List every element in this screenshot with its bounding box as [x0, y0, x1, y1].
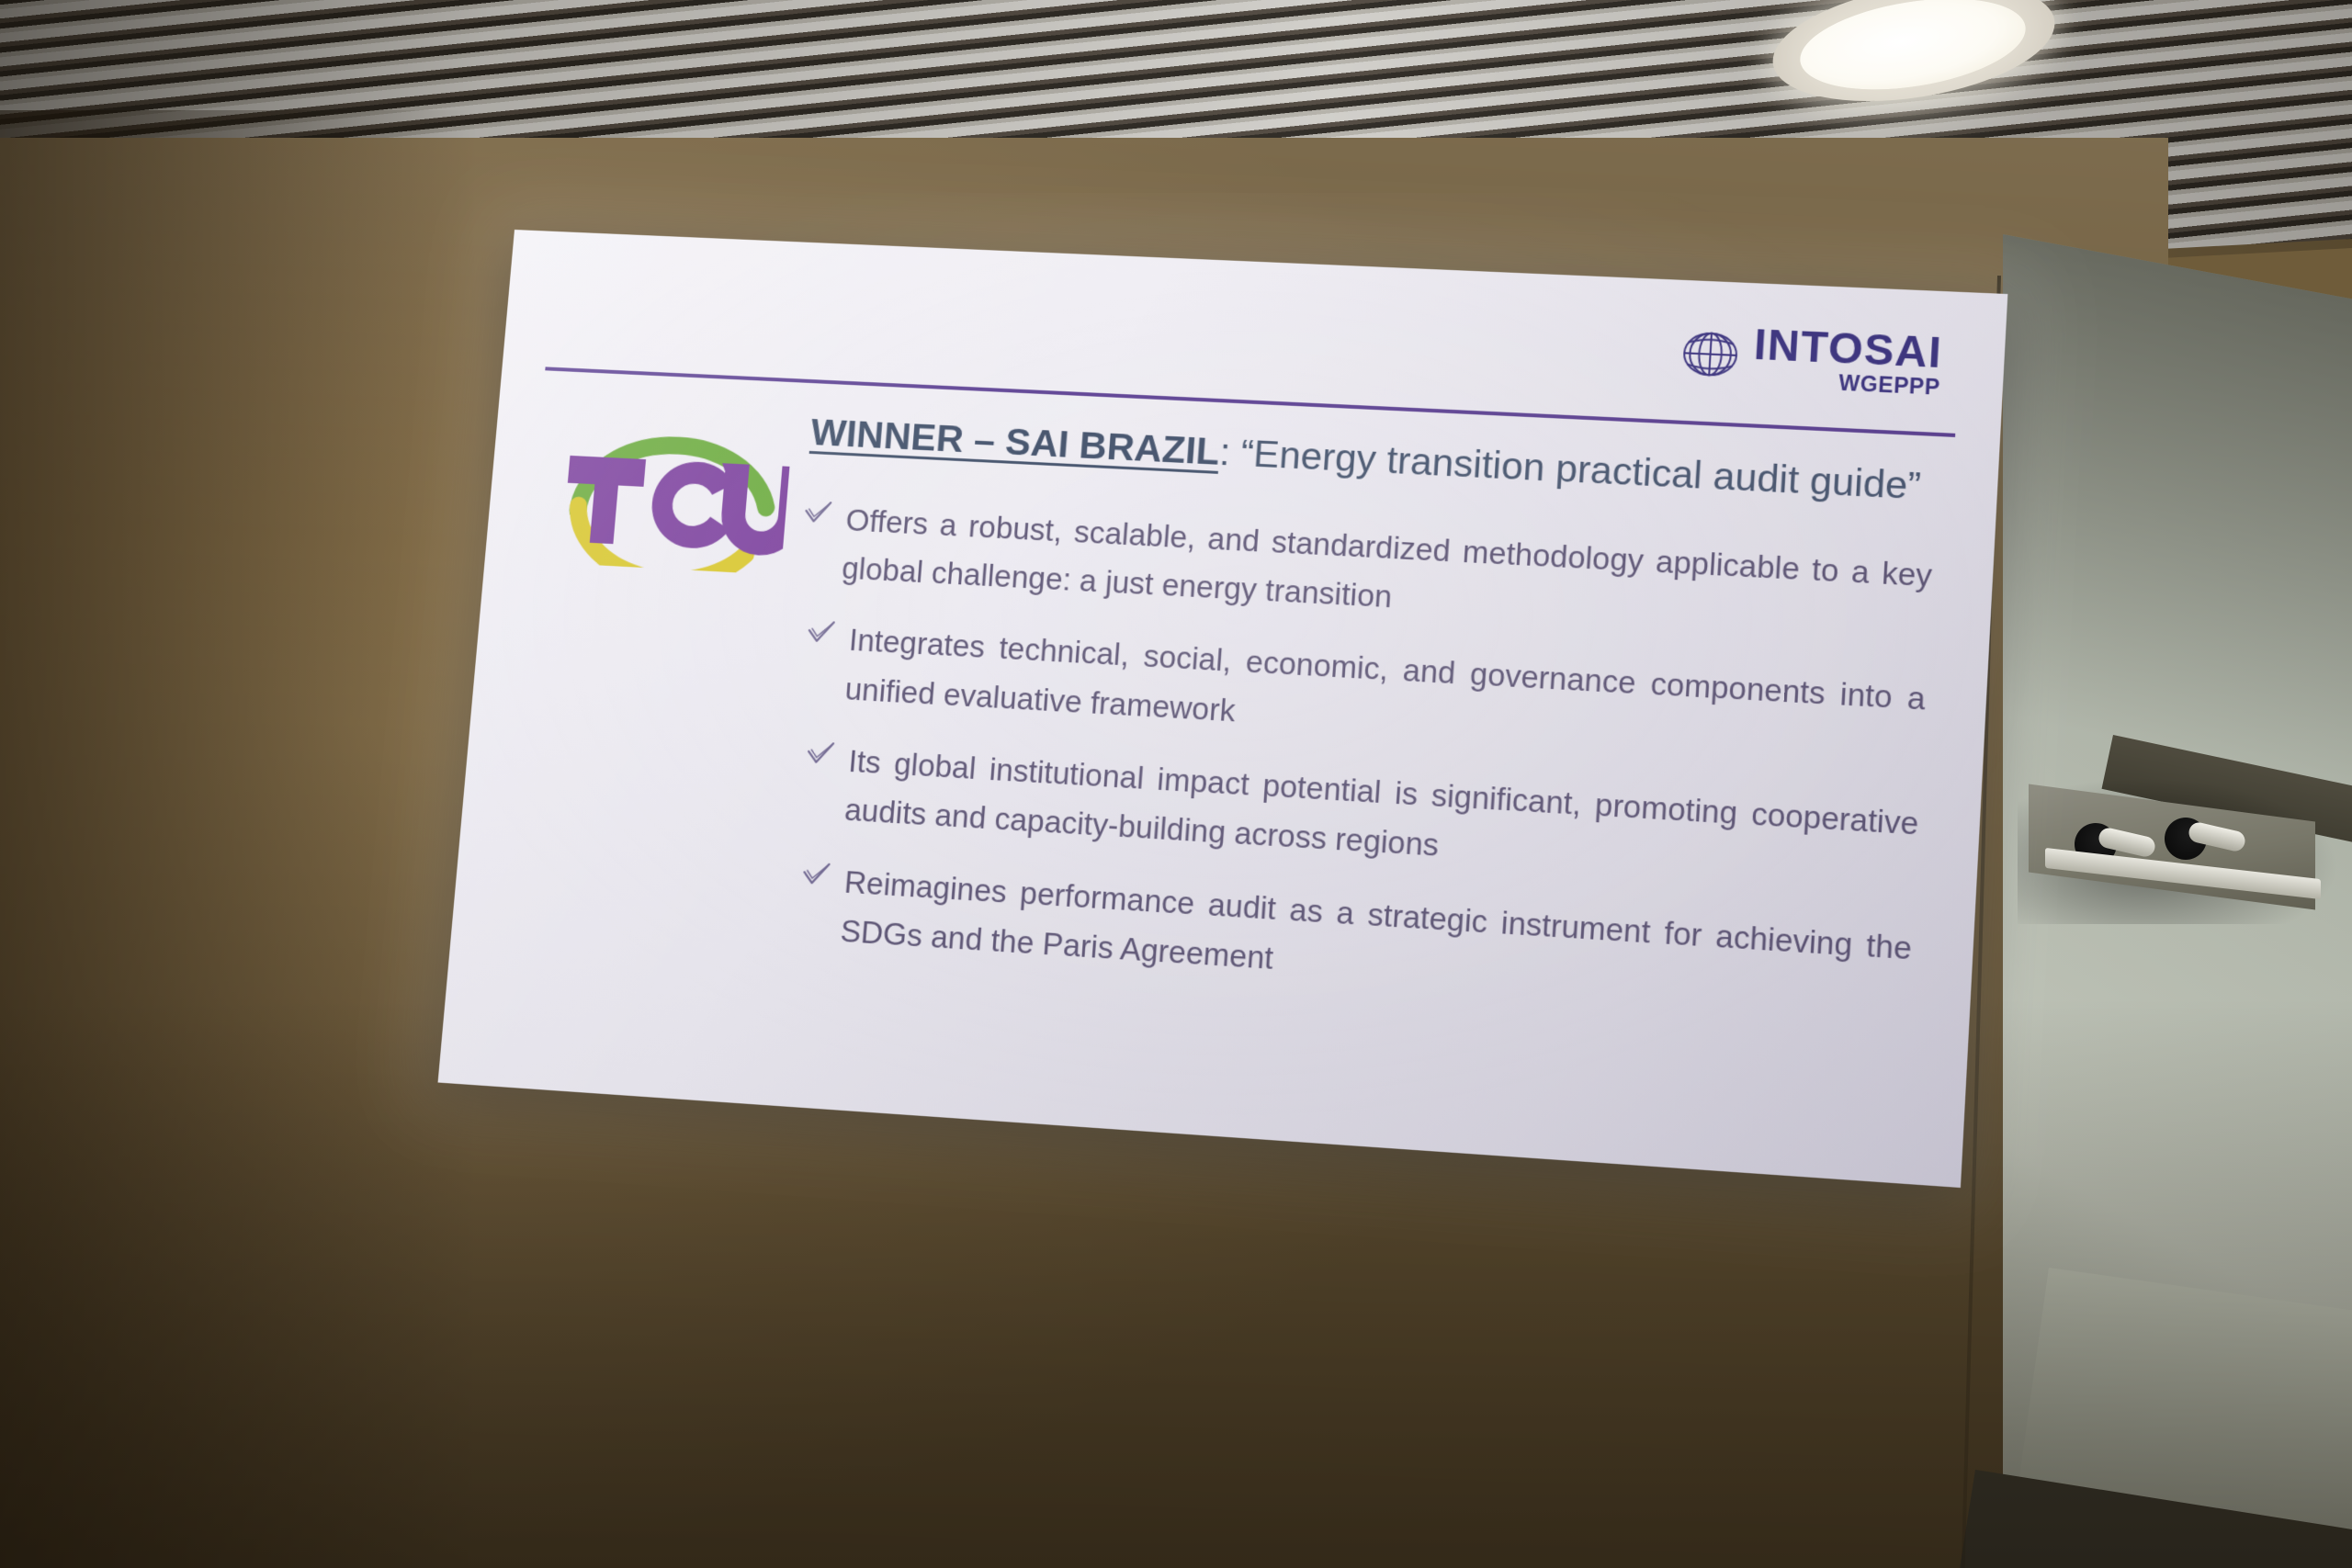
text-column: WINNER – SAI BRAZIL: “Energy transition …	[757, 411, 1942, 1049]
slide-body: WINNER – SAI BRAZIL: “Energy transition …	[501, 367, 1944, 1049]
intosai-logo: INTOSAI WGEPPP	[1679, 320, 1943, 399]
room-scene: INTOSAI WGEPPP	[0, 0, 2352, 1568]
check-mark-icon	[801, 862, 831, 887]
slide-title: WINNER – SAI BRAZIL: “Energy transition …	[809, 411, 1939, 510]
tcu-logo-icon	[553, 408, 793, 575]
check-mark-icon	[807, 620, 836, 646]
projected-slide: INTOSAI WGEPPP	[438, 230, 2008, 1188]
check-mark-icon	[806, 740, 835, 766]
bullet-list: Offers a robust, scalable, and standardi…	[768, 494, 1933, 1024]
logo-column	[501, 398, 804, 974]
intosai-name: INTOSAI	[1753, 322, 1943, 374]
intosai-globe-icon	[1679, 324, 1742, 385]
projection-area: INTOSAI WGEPPP	[0, 0, 2352, 1568]
guide-title: “Energy transition practical audit guide…	[1239, 432, 1922, 508]
intosai-wordmark: INTOSAI WGEPPP	[1751, 322, 1943, 399]
intosai-subtitle: WGEPPP	[1751, 368, 1940, 399]
title-separator: :	[1218, 430, 1243, 474]
winner-label: WINNER – SAI BRAZIL	[809, 411, 1221, 473]
check-mark-icon	[803, 501, 832, 526]
